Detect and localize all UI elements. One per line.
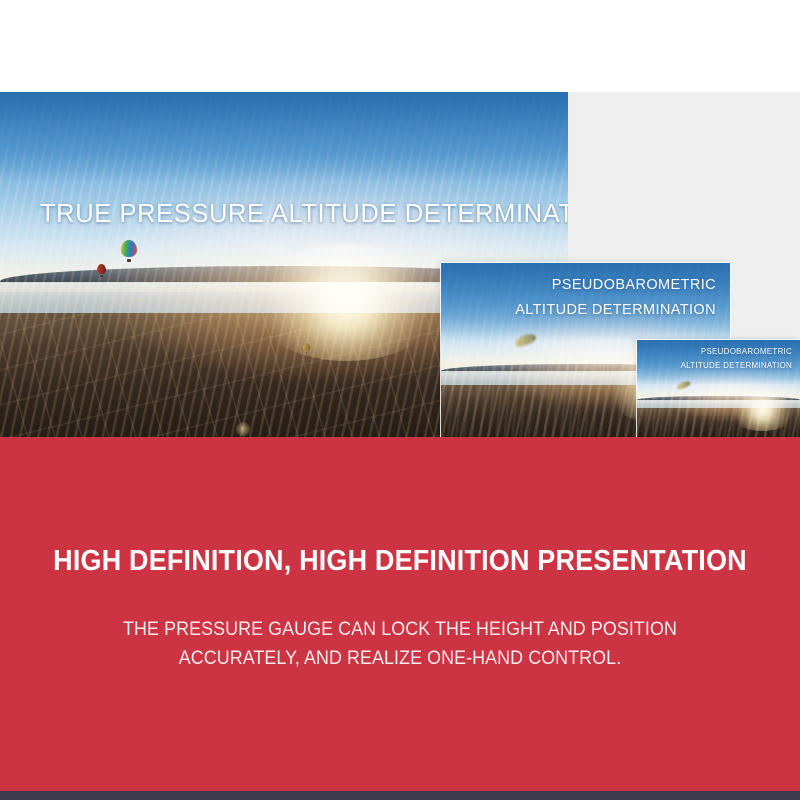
balloon-icon (121, 240, 137, 262)
panel-medium-title-line2: ALTITUDE DETERMINATION (466, 298, 716, 323)
balloon-icon (303, 343, 310, 353)
promo-headline: HIGH DEFINITION, HIGH DEFINITION PRESENT… (28, 545, 772, 578)
promo-subline-1: THE PRESSURE GAUGE CAN LOCK THE HEIGHT A… (24, 619, 776, 641)
balloon-envelope-icon (121, 240, 137, 257)
panel-medium-title-line1: PSEUDOBAROMETRIC (466, 273, 716, 298)
balloon-basket-icon (127, 259, 131, 262)
panel-small-title-line2: ALTITUDE DETERMINATION (642, 359, 792, 373)
promo-red-band: HIGH DEFINITION, HIGH DEFINITION PRESENT… (0, 437, 800, 791)
promo-banner: TRUE PRESSURE ALTITUDE DETERMINATION PSE… (0, 0, 800, 800)
panel-medium-title: PSEUDOBAROMETRIC ALTITUDE DETERMINATION (466, 273, 716, 323)
bottom-rule (0, 791, 800, 800)
lens-flare-icon (350, 288, 368, 306)
hero-sun-glow (250, 244, 443, 361)
balloon-basket-icon (306, 352, 308, 353)
upper-section: TRUE PRESSURE ALTITUDE DETERMINATION PSE… (0, 0, 800, 437)
panel-small-sun-glow (728, 390, 796, 431)
panel-small-title: PSEUDOBAROMETRIC ALTITUDE DETERMINATION (642, 345, 792, 373)
panel-small-title-line1: PSEUDOBAROMETRIC (642, 345, 792, 359)
balloon-envelope-icon (303, 343, 310, 351)
balloon-basket-icon (100, 275, 102, 277)
balloon-envelope-icon (97, 264, 106, 274)
promo-subline-2: ACCURATELY, AND REALIZE ONE-HAND CONTROL… (24, 648, 776, 670)
hero-title: TRUE PRESSURE ALTITUDE DETERMINATION (40, 200, 560, 229)
panel-small: PSEUDOBAROMETRIC ALTITUDE DETERMINATION (637, 340, 800, 437)
balloon-icon (97, 264, 106, 277)
lens-flare-icon (236, 422, 250, 436)
